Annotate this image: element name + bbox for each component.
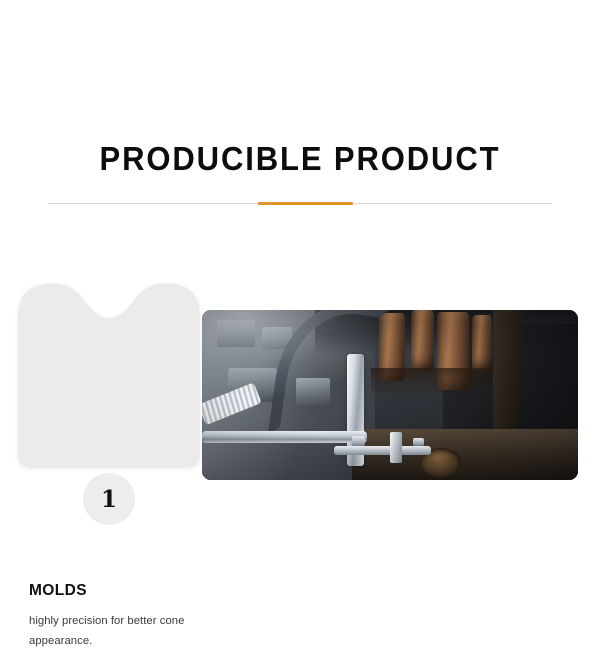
photo-vignette xyxy=(202,310,578,480)
feature-description: highly precision for better cone appeara… xyxy=(29,611,189,651)
feature-number-label: 1 xyxy=(101,488,117,511)
photo-canvas xyxy=(202,310,578,480)
title-divider xyxy=(48,202,552,206)
feature-text-group: MOLDS highly precision for better cone a… xyxy=(29,582,189,651)
cone-mold-machine-photo xyxy=(202,310,578,480)
product-feature-section: PRODUCIBLE PRODUCT xyxy=(0,0,600,600)
feature-number-badge: 1 xyxy=(83,473,135,525)
divider-accent-bar xyxy=(258,202,353,205)
info-card-shape xyxy=(18,278,200,468)
feature-info-card xyxy=(18,278,200,468)
feature-item-molds: 1 MOLDS highly precision for better cone… xyxy=(0,230,600,500)
feature-heading: MOLDS xyxy=(29,582,189,600)
page-title: PRODUCIBLE PRODUCT xyxy=(18,140,582,178)
